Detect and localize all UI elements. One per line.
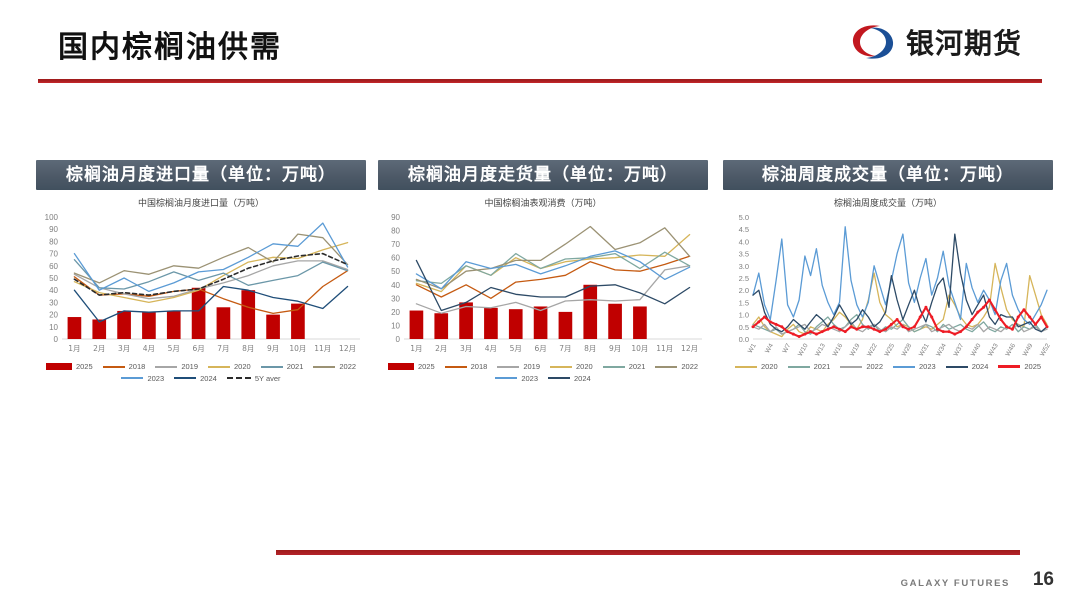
legend-item: 2024 [946, 363, 989, 371]
svg-text:100: 100 [45, 213, 59, 222]
page-number: 16 [1033, 569, 1054, 591]
svg-text:70: 70 [391, 240, 400, 249]
legend-label: 2018 [129, 363, 146, 371]
slide-header: 国内棕榈油供需 银河期货 [0, 0, 1080, 82]
chart-legend-import: 202520182019202020212022202320245Y aver [36, 363, 366, 382]
legend-item: 2024 [548, 375, 591, 383]
svg-text:9月: 9月 [267, 344, 279, 353]
legend-label: 2024 [972, 363, 989, 371]
plot-area-consumption: 01020304050607080901月2月3月4月5月6月7月8月9月10月… [378, 211, 708, 361]
legend-swatch-2021 [788, 366, 810, 368]
svg-text:3月: 3月 [118, 344, 130, 353]
svg-text:W43: W43 [987, 342, 1000, 357]
panel-title-import: 棕榈油月度进口量（单位：万吨） [36, 160, 366, 190]
svg-text:70: 70 [49, 250, 58, 259]
legend-item: 2024 [174, 375, 217, 383]
legend-label: 2021 [814, 363, 831, 371]
legend-item: 2021 [603, 363, 646, 371]
chart-panel-weekly-volume: 棕油周度成交量（单位：万吨） 棕榈油周度成交量（万吨） 0.00.51.01.5… [723, 160, 1053, 371]
svg-text:W34: W34 [935, 342, 948, 357]
svg-text:20: 20 [391, 308, 400, 317]
svg-text:12月: 12月 [681, 344, 698, 353]
plot-area-weekly-volume: 0.00.51.01.52.02.53.03.54.04.55.0W1W4W7W… [723, 211, 1053, 361]
legend-item: 2021 [261, 363, 304, 371]
legend-swatch-2025 [46, 363, 72, 370]
svg-text:10月: 10月 [289, 344, 306, 353]
svg-text:W19: W19 [849, 342, 862, 357]
legend-label: 2020 [761, 363, 778, 371]
svg-text:W31: W31 [918, 342, 931, 357]
svg-text:9月: 9月 [609, 344, 621, 353]
legend-label: 2022 [681, 363, 698, 371]
svg-text:60: 60 [49, 262, 58, 271]
legend-label: 2022 [866, 363, 883, 371]
legend-swatch-2023 [893, 366, 915, 368]
legend-swatch-2023 [121, 377, 143, 379]
svg-text:2.5: 2.5 [739, 274, 749, 283]
legend-swatch-2020 [208, 366, 230, 368]
legend-swatch-2020 [550, 366, 572, 368]
svg-text:W40: W40 [970, 342, 983, 357]
svg-text:5月: 5月 [168, 344, 180, 353]
chart-svg-weekly-volume: 0.00.51.01.52.02.53.03.54.04.55.0W1W4W7W… [723, 211, 1053, 361]
svg-text:11月: 11月 [656, 344, 673, 353]
svg-text:W25: W25 [883, 342, 896, 357]
legend-label: 2025 [1024, 363, 1041, 371]
panel-subtitle-consumption: 中国棕榈油表观消费（万吨） [378, 196, 708, 209]
legend-label: 2022 [339, 363, 356, 371]
panel-subtitle-import: 中国棕榈油月度进口量（万吨） [36, 196, 366, 209]
svg-text:W4: W4 [764, 342, 775, 354]
svg-text:W13: W13 [814, 342, 827, 357]
svg-text:11月: 11月 [314, 344, 331, 353]
svg-text:10: 10 [391, 321, 400, 330]
legend-label: 2019 [181, 363, 198, 371]
legend-label: 2023 [521, 375, 538, 383]
legend-item: 5Y aver [227, 375, 281, 383]
svg-text:1.5: 1.5 [739, 298, 749, 307]
legend-label: 2025 [76, 363, 93, 371]
legend-label: 2024 [574, 375, 591, 383]
legend-label: 2023 [919, 363, 936, 371]
svg-text:80: 80 [391, 227, 400, 236]
svg-text:40: 40 [49, 286, 58, 295]
legend-label: 2021 [287, 363, 304, 371]
svg-text:3.0: 3.0 [739, 262, 749, 271]
footer-divider [276, 550, 1020, 555]
svg-text:2月: 2月 [435, 344, 447, 353]
svg-text:20: 20 [49, 311, 58, 320]
svg-text:40: 40 [391, 281, 400, 290]
panel-subtitle-weekly-volume: 棕榈油周度成交量（万吨） [723, 196, 1053, 209]
legend-label: 2018 [471, 363, 488, 371]
page-title: 国内棕榈油供需 [58, 22, 282, 66]
legend-item: 2025 [998, 363, 1041, 371]
legend-item: 2022 [313, 363, 356, 371]
svg-text:W22: W22 [866, 342, 879, 357]
panel-title-weekly-volume: 棕油周度成交量（单位：万吨） [723, 160, 1053, 190]
svg-text:1月: 1月 [68, 344, 80, 353]
chart-svg-consumption: 01020304050607080901月2月3月4月5月6月7月8月9月10月… [378, 211, 708, 361]
svg-text:30: 30 [49, 298, 58, 307]
svg-text:0.5: 0.5 [739, 323, 749, 332]
svg-text:90: 90 [391, 213, 400, 222]
svg-text:10: 10 [49, 323, 58, 332]
svg-text:0.0: 0.0 [739, 335, 749, 344]
svg-text:W10: W10 [797, 342, 810, 357]
svg-text:60: 60 [391, 254, 400, 263]
legend-label: 5Y aver [255, 375, 281, 383]
legend-swatch-2018 [103, 366, 125, 368]
panel-title-consumption: 棕榈油月度走货量（单位：万吨） [378, 160, 708, 190]
plot-area-import: 01020304050607080901001月2月3月4月5月6月7月8月9月… [36, 211, 366, 361]
svg-text:50: 50 [49, 274, 58, 283]
legend-item: 2023 [893, 363, 936, 371]
svg-text:2.0: 2.0 [739, 286, 749, 295]
svg-text:0: 0 [54, 335, 59, 344]
svg-text:8月: 8月 [584, 344, 596, 353]
legend-item: 2018 [445, 363, 488, 371]
svg-text:W46: W46 [1004, 342, 1017, 357]
legend-item: 2020 [735, 363, 778, 371]
legend-item: 2023 [495, 375, 538, 383]
legend-swatch-2021 [603, 366, 625, 368]
chart-panel-consumption: 棕榈油月度走货量（单位：万吨） 中国棕榈油表观消费（万吨） 0102030405… [378, 160, 708, 382]
legend-item: 2021 [788, 363, 831, 371]
legend-label: 2019 [523, 363, 540, 371]
svg-text:10月: 10月 [631, 344, 648, 353]
svg-text:12月: 12月 [339, 344, 356, 353]
svg-text:4.0: 4.0 [739, 237, 749, 246]
legend-item: 2025 [388, 363, 435, 371]
svg-text:1月: 1月 [410, 344, 422, 353]
svg-text:0: 0 [396, 335, 401, 344]
svg-text:W1: W1 [747, 342, 758, 354]
legend-label: 2025 [418, 363, 435, 371]
svg-text:5.0: 5.0 [739, 213, 749, 222]
svg-text:50: 50 [391, 267, 400, 276]
legend-item: 2022 [840, 363, 883, 371]
legend-swatch-2023 [495, 377, 517, 379]
legend-item: 2019 [155, 363, 198, 371]
svg-text:W16: W16 [831, 342, 844, 357]
legend-swatch-2024 [946, 366, 968, 368]
legend-swatch-2024 [174, 377, 196, 379]
svg-text:8月: 8月 [242, 344, 254, 353]
legend-label: 2024 [200, 375, 217, 383]
svg-text:W49: W49 [1022, 342, 1035, 357]
legend-item: 2022 [655, 363, 698, 371]
brand-name: 银河期货 [906, 22, 1022, 62]
svg-text:4月: 4月 [143, 344, 155, 353]
svg-text:3月: 3月 [460, 344, 472, 353]
legend-swatch-2022 [840, 366, 862, 368]
svg-text:6月: 6月 [534, 344, 546, 353]
svg-text:4月: 4月 [485, 344, 497, 353]
legend-swatch-2022 [313, 366, 335, 368]
legend-label: 2020 [576, 363, 593, 371]
svg-text:2月: 2月 [93, 344, 105, 353]
header-divider [38, 79, 1042, 83]
chart-svg-import: 01020304050607080901001月2月3月4月5月6月7月8月9月… [36, 211, 366, 361]
chart-panel-import: 棕榈油月度进口量（单位：万吨） 中国棕榈油月度进口量（万吨） 010203040… [36, 160, 366, 382]
legend-swatch-2018 [445, 366, 467, 368]
chart-legend-weekly-volume: 202020212022202320242025 [723, 363, 1053, 371]
legend-swatch-2019 [155, 366, 177, 368]
chart-legend-consumption: 20252018201920202021202220232024 [378, 363, 708, 382]
svg-text:1.0: 1.0 [739, 311, 749, 320]
svg-text:W28: W28 [901, 342, 914, 357]
svg-text:4.5: 4.5 [739, 225, 749, 234]
slide: 国内棕榈油供需 银河期货 棕榈油月度进口量（单位：万吨） 中国棕榈油月度进口量（… [0, 0, 1080, 608]
svg-text:80: 80 [49, 237, 58, 246]
legend-item: 2020 [208, 363, 251, 371]
legend-item: 2020 [550, 363, 593, 371]
svg-text:7月: 7月 [217, 344, 229, 353]
svg-text:W52: W52 [1039, 342, 1052, 357]
svg-text:5月: 5月 [510, 344, 522, 353]
legend-label: 2020 [234, 363, 251, 371]
legend-swatch-2025 [998, 365, 1020, 368]
svg-text:6月: 6月 [192, 344, 204, 353]
legend-swatch-2025 [388, 363, 414, 370]
svg-text:7月: 7月 [559, 344, 571, 353]
legend-label: 2021 [629, 363, 646, 371]
legend-swatch-2024 [548, 377, 570, 379]
galaxy-swirl-icon [850, 22, 896, 62]
footer-brand: GALAXY FUTURES [901, 578, 1010, 589]
legend-item: 2018 [103, 363, 146, 371]
legend-swatch-2020 [735, 366, 757, 368]
legend-swatch-5y-aver [227, 377, 251, 379]
legend-item: 2023 [121, 375, 164, 383]
svg-text:W37: W37 [952, 342, 965, 357]
legend-label: 2023 [147, 375, 164, 383]
legend-item: 2025 [46, 363, 93, 371]
brand-lockup: 银河期货 [850, 22, 1022, 62]
legend-item: 2019 [497, 363, 540, 371]
svg-text:W7: W7 [781, 342, 792, 354]
legend-swatch-2021 [261, 366, 283, 368]
svg-text:30: 30 [391, 294, 400, 303]
legend-swatch-2022 [655, 366, 677, 368]
svg-text:90: 90 [49, 225, 58, 234]
svg-text:3.5: 3.5 [739, 250, 749, 259]
legend-swatch-2019 [497, 366, 519, 368]
